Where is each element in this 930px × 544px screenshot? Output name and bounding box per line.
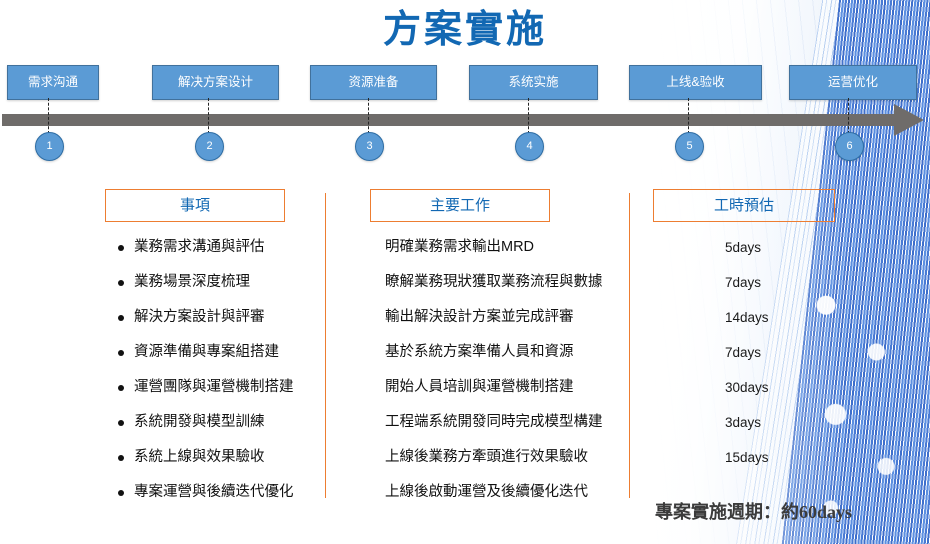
column-header-work: 主要工作 [370, 189, 550, 222]
list-item: 7days [725, 335, 769, 370]
bullet-icon [118, 385, 124, 391]
timeline-connector-4 [528, 98, 529, 134]
bullet-icon [118, 245, 124, 251]
list-item: 7days [725, 265, 769, 300]
list-item-label: 業務場景深度梳理 [134, 274, 250, 290]
column-header-days: 工時預估 [653, 189, 835, 222]
list-item-label: 系統上線與效果驗收 [134, 449, 265, 465]
timeline-step-box-2[interactable]: 解决方案设计 [152, 65, 279, 100]
process-timeline: 需求沟通 解决方案设计 资源准备 系统实施 上线&验收 运营优化 1 2 3 4… [0, 0, 930, 170]
list-item-label: 資源準備與專案組搭建 [134, 344, 279, 360]
list-item-label: 專案運營與後續迭代優化 [134, 484, 294, 500]
list-item: 輸出解決設計方案並完成評審 [385, 300, 603, 335]
bullet-icon [118, 490, 124, 496]
list-item: 解決方案設計與評審 [118, 300, 294, 335]
list-item-label: 解決方案設計與評審 [134, 309, 265, 325]
list-item: 5days [725, 230, 769, 265]
timeline-step-box-3[interactable]: 资源准备 [310, 65, 437, 100]
list-item: 15days [725, 440, 769, 475]
list-item: 3days [725, 405, 769, 440]
list-item: 上線後業務方牽頭進行效果驗收 [385, 440, 603, 475]
column-separator-1 [325, 193, 326, 498]
list-item: 專案運營與後續迭代優化 [118, 475, 294, 510]
timeline-step-box-4[interactable]: 系统实施 [469, 65, 598, 100]
items-column: 業務需求溝通與評估 業務場景深度梳理 解決方案設計與評審 資源準備與專案組搭建 … [118, 230, 294, 510]
list-item: 工程端系統開發同時完成模型構建 [385, 405, 603, 440]
list-item-label: 業務需求溝通與評估 [134, 239, 265, 255]
list-item: 瞭解業務現狀獲取業務流程與數據 [385, 265, 603, 300]
list-item: 14days [725, 300, 769, 335]
days-column: 5days 7days 14days 7days 30days 3days 15… [725, 230, 769, 475]
list-item: 系統上線與效果驗收 [118, 440, 294, 475]
bullet-icon [118, 315, 124, 321]
timeline-step-box-1[interactable]: 需求沟通 [7, 65, 99, 100]
list-item-label: 系統開發與模型訓練 [134, 414, 265, 430]
list-item: 業務需求溝通與評估 [118, 230, 294, 265]
list-item: 系統開發與模型訓練 [118, 405, 294, 440]
timeline-step-marker-2[interactable]: 2 [195, 132, 224, 161]
list-item: 30days [725, 370, 769, 405]
timeline-bar [2, 114, 897, 126]
list-item: 資源準備與專案組搭建 [118, 335, 294, 370]
list-item: 業務場景深度梳理 [118, 265, 294, 300]
total-duration-label: 專案實施週期：約60days [655, 498, 925, 524]
list-item: 明確業務需求輸出MRD [385, 230, 603, 265]
list-item: 基於系統方案準備人員和資源 [385, 335, 603, 370]
timeline-connector-1 [48, 98, 49, 134]
timeline-connector-2 [208, 98, 209, 134]
timeline-step-marker-5[interactable]: 5 [675, 132, 704, 161]
column-header-items: 事項 [105, 189, 285, 222]
timeline-step-marker-3[interactable]: 3 [355, 132, 384, 161]
list-item: 運營團隊與運營機制搭建 [118, 370, 294, 405]
bullet-icon [118, 420, 124, 426]
bullet-icon [118, 280, 124, 286]
timeline-step-marker-6[interactable]: 6 [835, 132, 864, 161]
timeline-connector-6 [848, 98, 849, 134]
timeline-step-box-6[interactable]: 运营优化 [789, 65, 917, 100]
bullet-icon [118, 350, 124, 356]
list-item: 上線後啟動運營及後續優化迭代 [385, 475, 603, 510]
column-separator-2 [629, 193, 630, 498]
timeline-arrow-icon [894, 104, 924, 136]
list-item: 開始人員培訓與運營機制搭建 [385, 370, 603, 405]
timeline-step-marker-1[interactable]: 1 [35, 132, 64, 161]
photo-light-bokeh [802, 274, 922, 534]
timeline-step-box-5[interactable]: 上线&验收 [629, 65, 762, 100]
timeline-step-marker-4[interactable]: 4 [515, 132, 544, 161]
timeline-connector-5 [688, 98, 689, 134]
bullet-icon [118, 455, 124, 461]
timeline-connector-3 [368, 98, 369, 134]
list-item-label: 運營團隊與運營機制搭建 [134, 379, 294, 395]
work-column: 明確業務需求輸出MRD 瞭解業務現狀獲取業務流程與數據 輸出解決設計方案並完成評… [385, 230, 603, 510]
